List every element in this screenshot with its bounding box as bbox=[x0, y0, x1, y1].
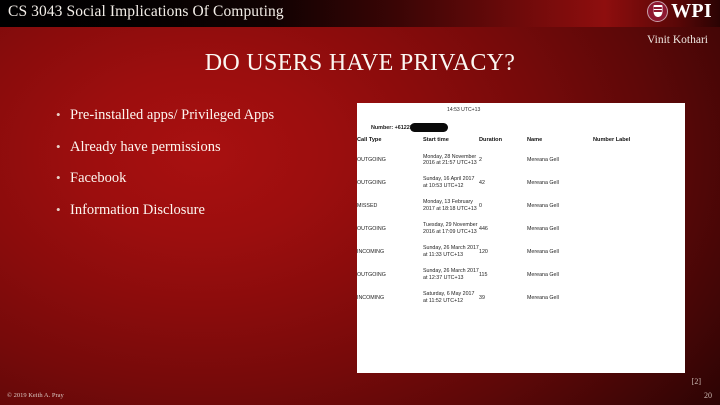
cell-number-label bbox=[593, 287, 685, 310]
cell-number-label bbox=[593, 241, 685, 264]
clipped-table-row: INCOMING March 2017 at 14:53 UTC+13 16 M… bbox=[357, 103, 685, 121]
slide-title: DO USERS HAVE PRIVACY? bbox=[0, 50, 720, 77]
column-header-start-time: Start time bbox=[423, 135, 479, 149]
bullet-marker-icon: • bbox=[56, 169, 70, 187]
bullet-text: Facebook bbox=[70, 169, 346, 188]
clipped-call-type: INCOMING bbox=[377, 103, 403, 104]
cell-call-type: OUTGOING bbox=[357, 149, 423, 172]
clipped-start-time-line2: 14:53 UTC+13 bbox=[447, 107, 480, 113]
cell-start-time: Tuesday, 29 November 2016 at 17:09 UTC+1… bbox=[423, 218, 479, 241]
cell-call-type: OUTGOING bbox=[357, 172, 423, 195]
cell-number-label bbox=[593, 218, 685, 241]
list-item: • Facebook bbox=[56, 169, 346, 188]
cell-start-time: Sunday, 16 April 2017 at 10:53 UTC+12 bbox=[423, 172, 479, 195]
table-row: OUTGOING Tuesday, 29 November 2016 at 17… bbox=[357, 218, 685, 241]
cell-name: Mereana Gell bbox=[527, 287, 593, 310]
column-header-call-type: Call Type bbox=[357, 135, 423, 149]
page-number: 20 bbox=[704, 391, 712, 400]
cell-call-type: OUTGOING bbox=[357, 218, 423, 241]
list-item: • Already have permissions bbox=[56, 138, 346, 157]
cell-start-time: Sunday, 26 March 2017 at 11:33 UTC+13 bbox=[423, 241, 479, 264]
cell-duration: 2 bbox=[479, 149, 527, 172]
table-row: OUTGOING Sunday, 26 March 2017 at 12:37 … bbox=[357, 264, 685, 287]
cell-duration: 120 bbox=[479, 241, 527, 264]
bullet-list: • Pre-installed apps/ Privileged Apps • … bbox=[56, 106, 346, 232]
cell-duration: 446 bbox=[479, 218, 527, 241]
cell-call-type: INCOMING bbox=[357, 241, 423, 264]
cell-duration: 39 bbox=[479, 287, 527, 310]
call-log-table: Call Type Start time Duration Name Numbe… bbox=[357, 135, 685, 310]
bullet-text: Already have permissions bbox=[70, 138, 346, 157]
copyright-notice: © 2019 Keith A. Pray bbox=[7, 392, 64, 399]
cell-duration: 42 bbox=[479, 172, 527, 195]
cell-number-label bbox=[593, 264, 685, 287]
cell-start-time: Sunday, 26 March 2017 at 12:37 UTC+13 bbox=[423, 264, 479, 287]
wpi-logo-text: WPI bbox=[671, 1, 712, 22]
column-header-duration: Duration bbox=[479, 135, 527, 149]
citation-reference: [2] bbox=[692, 377, 701, 386]
cell-number-label bbox=[593, 149, 685, 172]
cell-name: Mereana Gell bbox=[527, 241, 593, 264]
clipped-name: Mereana Gell bbox=[569, 103, 600, 104]
wpi-crest-icon bbox=[647, 1, 668, 22]
bullet-marker-icon: • bbox=[56, 106, 70, 124]
column-header-name: Name bbox=[527, 135, 593, 149]
table-row: INCOMING Sunday, 26 March 2017 at 11:33 … bbox=[357, 241, 685, 264]
call-log-screenshot: INCOMING March 2017 at 14:53 UTC+13 16 M… bbox=[357, 103, 685, 373]
cell-call-type: MISSED bbox=[357, 195, 423, 218]
author-name: Vinit Kothari bbox=[647, 34, 708, 46]
bullet-text: Pre-installed apps/ Privileged Apps bbox=[70, 106, 346, 125]
bullet-marker-icon: • bbox=[56, 138, 70, 156]
phone-number-text: Number: +61223 bbox=[371, 125, 413, 131]
list-item: • Information Disclosure bbox=[56, 201, 346, 220]
cell-name: Mereana Gell bbox=[527, 149, 593, 172]
clipped-start-time-line1: March 2017 at bbox=[447, 103, 480, 104]
cell-duration: 115 bbox=[479, 264, 527, 287]
table-row: MISSED Monday, 13 February 2017 at 18:18… bbox=[357, 195, 685, 218]
table-row: OUTGOING Sunday, 16 April 2017 at 10:53 … bbox=[357, 172, 685, 195]
course-title: CS 3043 Social Implications Of Computing bbox=[8, 3, 284, 21]
cell-start-time: Saturday, 6 May 2017 at 11:52 UTC+12 bbox=[423, 287, 479, 310]
presentation-slide: CS 3043 Social Implications Of Computing… bbox=[0, 0, 720, 405]
cell-start-time: Monday, 13 February 2017 at 18:18 UTC+13 bbox=[423, 195, 479, 218]
cell-call-type: INCOMING bbox=[357, 287, 423, 310]
phone-number-label: Number: +61223 bbox=[357, 121, 685, 135]
cell-duration: 0 bbox=[479, 195, 527, 218]
table-row: OUTGOING Monday, 28 November 2016 at 21:… bbox=[357, 149, 685, 172]
bullet-marker-icon: • bbox=[56, 201, 70, 219]
bullet-text: Information Disclosure bbox=[70, 201, 346, 220]
clipped-duration: 16 bbox=[515, 103, 521, 104]
cell-number-label bbox=[593, 195, 685, 218]
cell-call-type: OUTGOING bbox=[357, 264, 423, 287]
column-header-number-label: Number Label bbox=[593, 135, 685, 149]
list-item: • Pre-installed apps/ Privileged Apps bbox=[56, 106, 346, 125]
cell-number-label bbox=[593, 172, 685, 195]
cell-name: Mereana Gell bbox=[527, 218, 593, 241]
table-header-row: Call Type Start time Duration Name Numbe… bbox=[357, 135, 685, 149]
cell-start-time: Monday, 28 November 2016 at 21:57 UTC+13 bbox=[423, 149, 479, 172]
table-row: INCOMING Saturday, 6 May 2017 at 11:52 U… bbox=[357, 287, 685, 310]
cell-name: Mereana Gell bbox=[527, 195, 593, 218]
cell-name: Mereana Gell bbox=[527, 264, 593, 287]
slide-header-bar: CS 3043 Social Implications Of Computing bbox=[0, 0, 720, 27]
redaction-bar bbox=[410, 123, 448, 133]
wpi-logo: WPI bbox=[647, 1, 712, 22]
cell-name: Mereana Gell bbox=[527, 172, 593, 195]
